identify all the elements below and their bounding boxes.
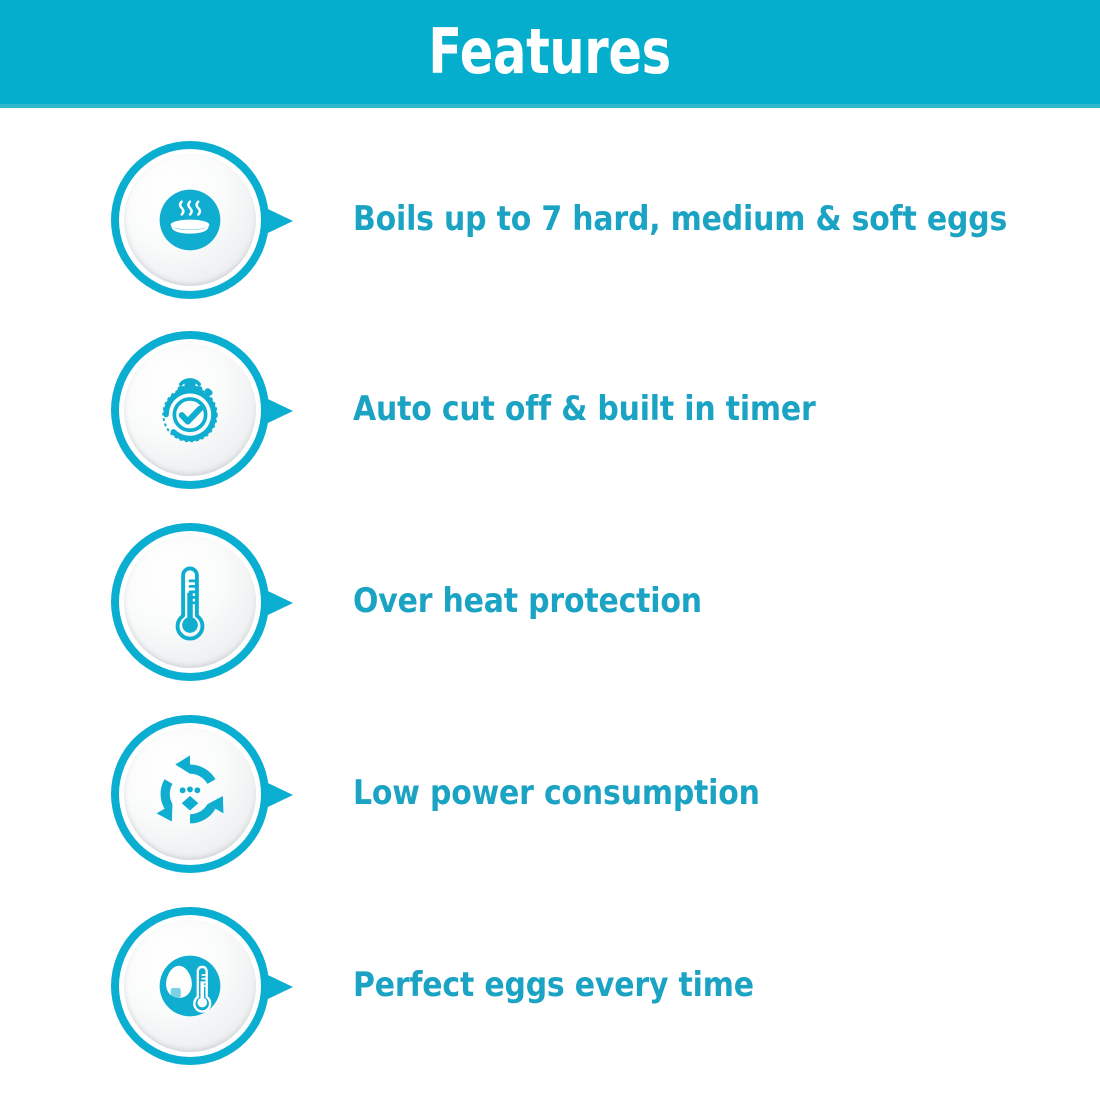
steaming-egg-icon [144,174,236,266]
features-list: Boils up to 7 hard, medium & soft eggs [0,108,1100,1100]
badge-inner-disc [124,344,256,476]
feature-badge [111,331,321,489]
feature-badge [111,141,321,299]
feature-label: Boils up to 7 hard, medium & soft eggs [353,201,1007,238]
feature-label: Auto cut off & built in timer [353,391,816,428]
feature-item[interactable]: Perfect eggs every time [0,906,1100,1066]
feature-label: Low power consumption [353,775,760,812]
thermometer-icon [144,556,236,648]
badge-inner-disc [124,154,256,286]
badge-inner-disc [124,920,256,1052]
feature-item[interactable]: Over heat protection [0,522,1100,682]
page-title: Features [429,21,671,83]
feature-badge [111,907,321,1065]
page-header: Features [0,0,1100,104]
badge-inner-disc [124,728,256,860]
badge-inner-disc [124,536,256,668]
feature-label: Over heat protection [353,583,702,620]
feature-item[interactable]: Low power consumption [0,714,1100,874]
feature-label: Perfect eggs every time [353,967,754,1004]
recycle-power-plug-icon [144,748,236,840]
feature-badge [111,715,321,873]
feature-item[interactable]: Boils up to 7 hard, medium & soft eggs [0,140,1100,300]
egg-thermometer-icon [144,940,236,1032]
feature-badge [111,523,321,681]
stopwatch-check-icon [144,364,236,456]
feature-item[interactable]: Auto cut off & built in timer [0,330,1100,490]
